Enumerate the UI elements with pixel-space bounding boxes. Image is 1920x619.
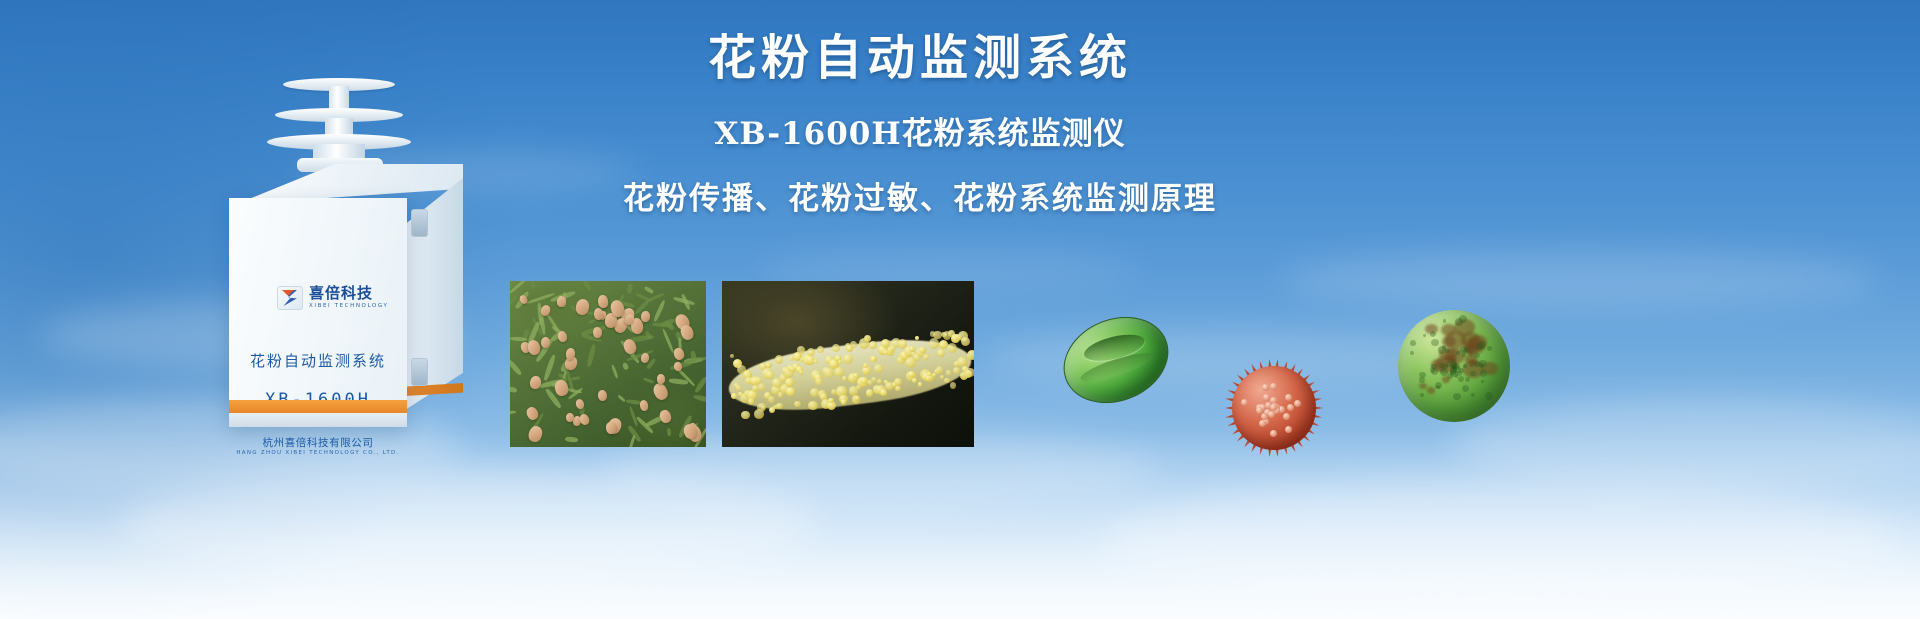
- anther: [799, 370, 804, 375]
- surface-dimple: [1410, 340, 1416, 346]
- anther: [832, 344, 840, 352]
- anther: [933, 331, 942, 340]
- anther: [870, 356, 877, 363]
- surface-dimple: [1435, 382, 1442, 389]
- pollen-pit: [1262, 384, 1269, 391]
- anther: [775, 355, 783, 363]
- surface-dimple: [1423, 334, 1427, 338]
- brand-name-cn: 喜倍科技: [309, 286, 388, 301]
- photo-conifer-cones: 柏科雄球花（花粉源）: [510, 281, 706, 447]
- surface-dimple: [1430, 331, 1436, 337]
- photo-catkin: 柔荑花序散播花粉: [722, 281, 974, 447]
- surface-dimple: [1476, 343, 1482, 349]
- anther: [828, 398, 834, 404]
- anther: [766, 371, 774, 379]
- surface-dimple: [1438, 346, 1445, 353]
- anther: [919, 347, 926, 354]
- anther: [807, 348, 815, 356]
- surface-dimple: [1487, 346, 1492, 351]
- horizon-haze: [0, 429, 1920, 619]
- anther: [936, 366, 943, 373]
- surface-dimple: [1465, 377, 1470, 382]
- pollen-pit: [1283, 413, 1290, 420]
- surface-dimple: [1442, 364, 1448, 370]
- pollen-cone: [597, 295, 608, 308]
- surface-dimple: [1431, 364, 1437, 370]
- anther: [965, 368, 974, 378]
- handle-icon: [411, 209, 428, 237]
- pollen-grain-sphere: 球状花粉粒: [1398, 310, 1510, 422]
- anther: [929, 338, 939, 348]
- pollen-cone: [641, 310, 651, 322]
- surface-dimple: [1458, 376, 1464, 382]
- surface-blotch: [1427, 387, 1435, 394]
- surface-dimple: [1480, 370, 1487, 377]
- anther: [880, 389, 887, 396]
- anther: [937, 349, 945, 357]
- surface-dimple: [1431, 339, 1439, 347]
- brand-logo: 喜倍科技 XIBEI TECHNOLOGY: [277, 286, 388, 310]
- anther: [895, 386, 901, 392]
- product-model-subtitle: XB-1600H花粉系统监测仪: [560, 108, 1280, 153]
- anther: [824, 368, 834, 378]
- headline-block: 花粉自动监测系统 XB-1600H花粉系统监测仪 花粉传播、花粉过敏、花粉系统监…: [560, 28, 1280, 218]
- anther: [850, 341, 857, 348]
- anther: [768, 396, 775, 403]
- anther: [776, 403, 783, 410]
- anther: [785, 378, 794, 387]
- anther: [731, 393, 737, 399]
- anther: [838, 360, 842, 364]
- anther: [909, 346, 915, 352]
- pollen-pit: [1270, 383, 1277, 390]
- anther: [918, 382, 923, 387]
- pollen-grain-spiky-label: 棘刺状花粉粒: [1218, 352, 1219, 353]
- cabinet-base: [229, 413, 407, 427]
- anther: [967, 350, 974, 360]
- cabinet-accent-stripe: [229, 400, 407, 413]
- anther: [761, 406, 765, 410]
- surface-dimple: [1471, 393, 1475, 397]
- surface-dimple: [1445, 349, 1450, 354]
- anther: [908, 371, 915, 378]
- surface-dimple: [1450, 370, 1457, 377]
- monitor-cabinet: 喜倍科技 XIBEI TECHNOLOGY 花粉自动监测系统 XB-1600H …: [205, 78, 475, 428]
- cabinet-company-cn: 杭州喜倍科技有限公司: [229, 435, 407, 450]
- surface-dimple: [1410, 351, 1414, 355]
- anther: [869, 341, 877, 349]
- surface-dimple: [1479, 363, 1484, 368]
- surface-dimple: [1453, 393, 1460, 400]
- surface-dimple: [1456, 351, 1460, 355]
- surface-dimple: [1474, 353, 1479, 358]
- banner-root: 花粉自动监测系统 XB-1600H花粉系统监测仪 花粉传播、花粉过敏、花粉系统监…: [0, 0, 1920, 619]
- pollen-pit: [1285, 426, 1292, 433]
- anther: [765, 362, 772, 369]
- xibei-logo-icon: [277, 286, 303, 310]
- anther: [730, 354, 734, 358]
- pollen-grain-oval-label: 椭圆形花粉粒: [1051, 342, 1052, 343]
- anther: [808, 401, 817, 410]
- cabinet-company-en: HANG ZHOU XIBEI TECHNOLOGY CO., LTD.: [229, 450, 407, 456]
- anther: [815, 378, 822, 385]
- cabinet-front-panel: 喜倍科技 XIBEI TECHNOLOGY 花粉自动监测系统 XB-1600H …: [229, 198, 407, 426]
- surface-dimple: [1419, 372, 1426, 379]
- surface-dimple: [1481, 380, 1484, 383]
- pollen-pit: [1268, 411, 1275, 418]
- anther: [741, 411, 749, 419]
- topics-subtitle: 花粉传播、花粉过敏、花粉系统监测原理: [560, 173, 1280, 218]
- page-title: 花粉自动监测系统: [560, 28, 1280, 88]
- anther: [786, 387, 795, 396]
- pollen-cone: [656, 374, 664, 384]
- cabinet-product-name: 花粉自动监测系统: [229, 350, 407, 371]
- surface-dimple: [1463, 364, 1467, 368]
- needle: [666, 428, 671, 436]
- anther: [923, 354, 929, 360]
- pollen-grain-spiky: 棘刺状花粉粒: [1218, 352, 1330, 464]
- surface-blotch: [1419, 383, 1427, 389]
- anther: [817, 346, 824, 353]
- surface-dimple: [1443, 319, 1446, 322]
- pollen-pit: [1285, 394, 1292, 401]
- anther: [758, 383, 765, 390]
- pollen-cone: [593, 308, 603, 320]
- surface-dimple: [1420, 393, 1424, 397]
- anther: [841, 399, 846, 404]
- pollen-cone: [566, 413, 574, 422]
- pollen-cone: [556, 295, 566, 306]
- surface-dimple: [1440, 368, 1448, 376]
- handle-icon: [411, 358, 428, 386]
- surface-dimple: [1485, 392, 1493, 400]
- pollen-cone: [529, 375, 541, 390]
- anther: [946, 370, 952, 376]
- anther: [797, 346, 805, 354]
- anther: [748, 398, 754, 404]
- brand-name-en: XIBEI TECHNOLOGY: [309, 304, 388, 310]
- pollen-grain-sphere-label: 球状花粉粒: [1398, 310, 1399, 311]
- surface-dimple: [1462, 385, 1469, 392]
